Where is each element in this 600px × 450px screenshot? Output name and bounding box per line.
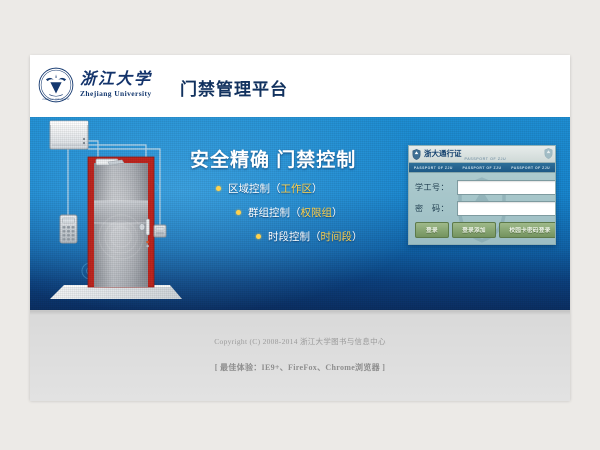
username-label: 学工号： bbox=[415, 182, 457, 193]
password-input[interactable] bbox=[457, 201, 556, 216]
svg-text:ZHEJIANG UNIVERSITY: ZHEJIANG UNIVERSITY bbox=[42, 98, 70, 101]
feature-tail: ） bbox=[352, 229, 363, 244]
feature-highlight: 权限组 bbox=[301, 205, 333, 220]
form-row-password: 密 码： bbox=[415, 201, 549, 216]
bullet-dot-icon bbox=[256, 234, 261, 239]
banner-copy: 安全精确 门禁控制 区域控制（ 工作区 ） 群组控制（ 权限组 ） 时段控制（ … bbox=[190, 145, 420, 244]
shield-watermark-icon bbox=[544, 148, 553, 159]
campus-card-password-login-button[interactable]: 校园卡密码登录 bbox=[499, 222, 556, 238]
login-watermark-strip: PASSPORT OF ZJU PASSPORT OF ZJU PASSPORT… bbox=[409, 163, 555, 173]
site-header: ZHEJIANG UNIVERSITY 浙江大学 Zhejiang Univer… bbox=[30, 55, 570, 117]
access-control-door-illustration bbox=[42, 119, 202, 307]
wordmark-en: Zhejiang University bbox=[80, 89, 152, 98]
feature-item-area-control: 区域控制（ 工作区 ） bbox=[216, 181, 420, 196]
login-button[interactable]: 登录 bbox=[415, 222, 449, 238]
page-title: 门禁管理平台 bbox=[180, 75, 288, 100]
strip-text: PASSPORT OF ZJU bbox=[511, 166, 550, 170]
login-panel-header: 浙大通行证 PASSPORT OF ZJU bbox=[409, 146, 555, 163]
strip-text: PASSPORT OF ZJU bbox=[463, 166, 502, 170]
page-container: ZHEJIANG UNIVERSITY 浙江大学 Zhejiang Univer… bbox=[30, 55, 570, 400]
login-form: 学工号： 密 码： 登录 登录添加 校园卡密码登录 bbox=[409, 173, 555, 244]
bullet-dot-icon bbox=[236, 210, 241, 215]
password-label: 密 码： bbox=[415, 203, 457, 214]
feature-tail: ） bbox=[332, 205, 343, 220]
feature-label: 群组控制（ bbox=[248, 205, 301, 220]
site-footer: Copyright (C) 2008-2014 浙江大学图书与信息中心 [ 最佳… bbox=[30, 310, 570, 401]
bullet-dot-icon bbox=[216, 186, 221, 191]
feature-highlight: 工作区 bbox=[281, 181, 313, 196]
login-panel-title: 浙大通行证 bbox=[424, 150, 462, 158]
zju-seal-icon: ZHEJIANG UNIVERSITY bbox=[38, 67, 74, 103]
login-panel: 浙大通行证 PASSPORT OF ZJU PASSPORT OF ZJU PA… bbox=[408, 145, 556, 245]
feature-tail: ） bbox=[312, 181, 323, 196]
form-row-username: 学工号： bbox=[415, 180, 549, 195]
feature-label: 区域控制（ bbox=[228, 181, 281, 196]
strip-text: PASSPORT OF ZJU bbox=[414, 166, 453, 170]
wordmark-cn: 浙江大学 bbox=[80, 72, 152, 89]
browser-support-text: [ 最佳体验：IE9+、FireFox、Chrome浏览器 ] bbox=[30, 347, 570, 373]
feature-item-time-control: 时段控制（ 时间段 ） bbox=[256, 229, 420, 244]
site-logo[interactable]: ZHEJIANG UNIVERSITY 浙江大学 Zhejiang Univer… bbox=[38, 67, 152, 103]
feature-item-group-control: 群组控制（ 权限组 ） bbox=[236, 205, 420, 220]
banner-headline: 安全精确 门禁控制 bbox=[190, 145, 420, 172]
feature-label: 时段控制（ bbox=[268, 229, 321, 244]
copyright-text: Copyright (C) 2008-2014 浙江大学图书与信息中心 bbox=[30, 311, 570, 347]
feature-highlight: 时间段 bbox=[321, 229, 353, 244]
login-panel-subtitle: PASSPORT OF ZJU bbox=[465, 157, 507, 161]
shield-icon bbox=[412, 149, 421, 160]
login-button-row: 登录 登录添加 校园卡密码登录 bbox=[415, 222, 549, 238]
username-input[interactable] bbox=[457, 180, 556, 195]
hero-banner: 安全精确 门禁控制 区域控制（ 工作区 ） 群组控制（ 权限组 ） 时段控制（ … bbox=[30, 117, 570, 310]
wordmark: 浙江大学 Zhejiang University bbox=[80, 72, 152, 99]
login-and-add-button[interactable]: 登录添加 bbox=[452, 222, 496, 238]
